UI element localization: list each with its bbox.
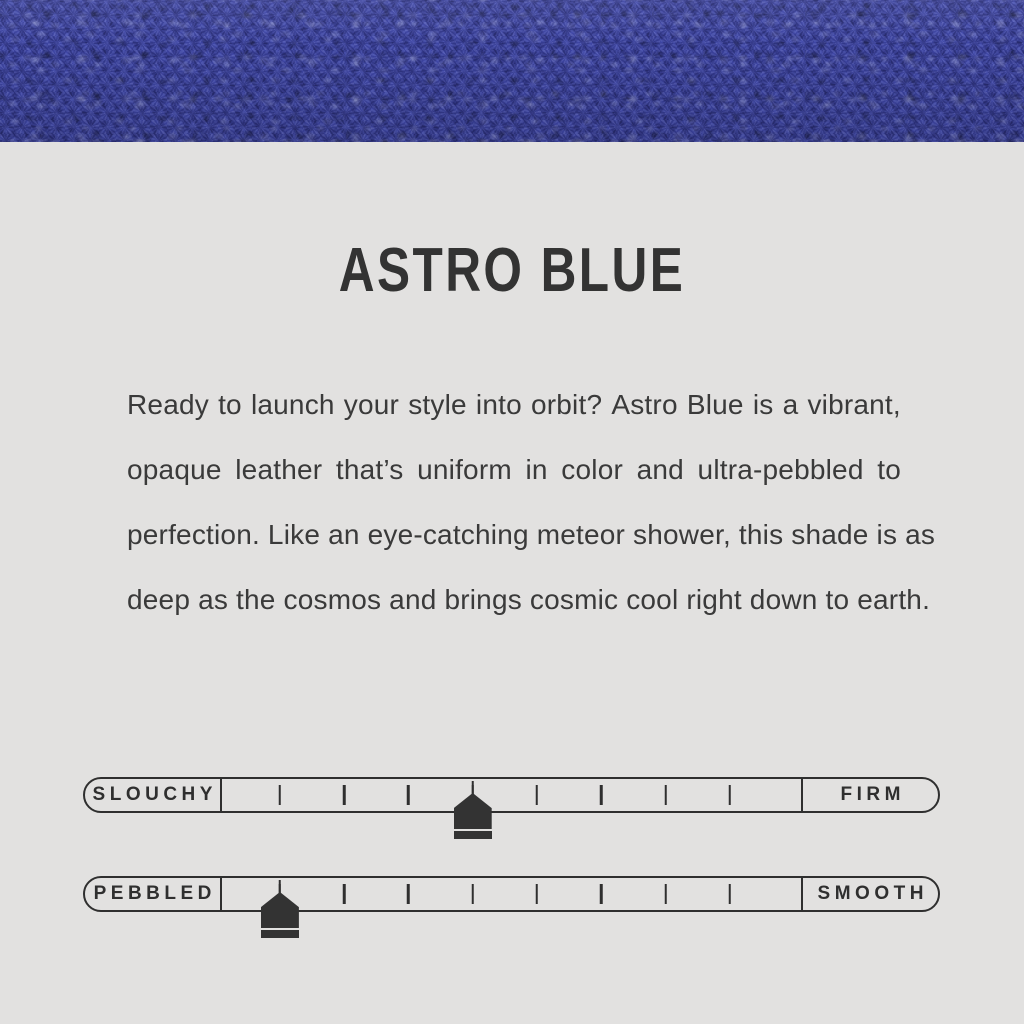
scale-1-tick-1 [279, 785, 282, 805]
description-line-1: Ready to launch your style into orbit? A… [127, 372, 901, 437]
scale-2-tick-3 [407, 884, 410, 904]
description-line-2: opaque leather that’s uniform in color a… [127, 437, 901, 502]
leather-swatch-band [0, 0, 1024, 142]
scale-2-tick-4 [471, 884, 474, 904]
scale-2-tick-7 [664, 884, 667, 904]
page-title: ASTRO BLUE [102, 240, 921, 302]
scale-1-track[interactable] [222, 779, 801, 811]
scale-2-tick-5 [536, 884, 539, 904]
marker-bar-icon [261, 930, 299, 938]
scale-1-tick-2 [343, 785, 346, 805]
scale-2-left-label: PEBBLED [85, 878, 222, 910]
scale-1-tick-6 [600, 785, 603, 805]
scale-1-right-label: FIRM [801, 779, 938, 811]
scale-1-tick-8 [729, 785, 732, 805]
scale-1-tick-3 [407, 785, 410, 805]
scale-1-tick-7 [664, 785, 667, 805]
scale-1-left-label: SLOUCHY [85, 779, 222, 811]
scale-1-tick-5 [536, 785, 539, 805]
leather-shading-layer [0, 0, 1024, 142]
scale-2-tick-8 [729, 884, 732, 904]
scale-2-tick-6 [600, 884, 603, 904]
scale-1-tick-4 [471, 785, 474, 805]
scale-2-tick-2 [343, 884, 346, 904]
marker-bar-icon [454, 831, 492, 839]
scale-2-track[interactable] [222, 878, 801, 910]
description-line-4: deep as the cosmos and brings cosmic coo… [127, 567, 901, 632]
scale-2-tick-1 [279, 884, 282, 904]
product-swatch-card: ASTRO BLUE Ready to launch your style in… [0, 0, 1024, 1024]
scale-2-right-label: SMOOTH [801, 878, 938, 910]
product-description: Ready to launch your style into orbit? A… [127, 372, 901, 632]
pebbled-smooth-scale[interactable]: PEBBLED SMOOTH [83, 876, 940, 912]
slouchy-firm-scale[interactable]: SLOUCHY FIRM [83, 777, 940, 813]
description-line-3: perfection. Like an eye-catching meteor … [127, 502, 901, 567]
